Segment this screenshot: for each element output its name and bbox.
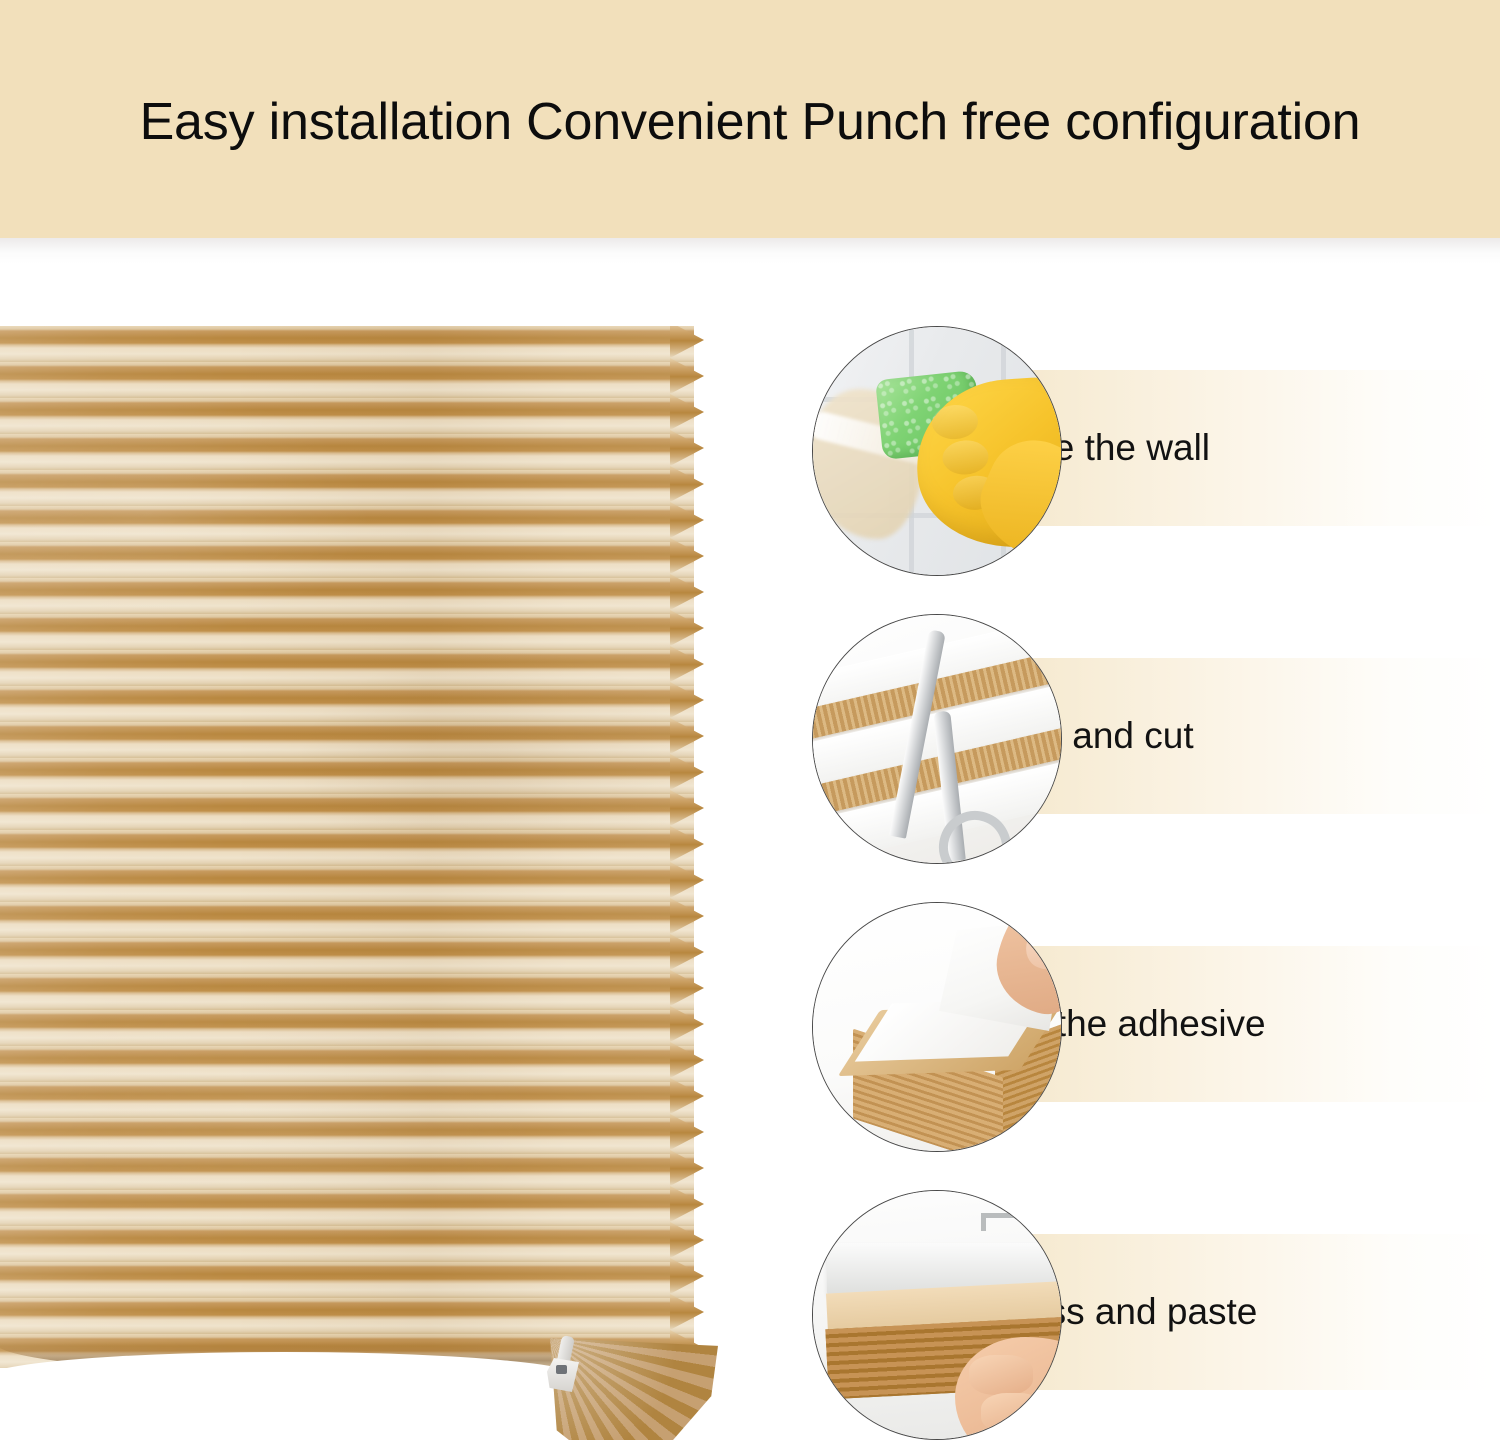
pleat-tooth <box>670 682 704 718</box>
step-item-1: Wipe the wall <box>790 318 1500 578</box>
pleat-tooth <box>670 430 704 466</box>
pleat-tooth <box>670 1006 704 1042</box>
pleat-tooth <box>670 862 704 898</box>
blind-sawtooth-edge <box>670 326 704 1368</box>
pleat-tooth <box>670 502 704 538</box>
pleat-tooth <box>670 646 704 682</box>
step-label-2: Size and cut <box>990 658 1490 814</box>
pleat-tooth <box>670 326 704 358</box>
pleat-tooth <box>670 1150 704 1186</box>
pleat-tooth <box>670 466 704 502</box>
step-label-1: Wipe the wall <box>990 370 1490 526</box>
pleat-tooth <box>670 574 704 610</box>
window-rod-hook <box>981 1213 986 1231</box>
step-item-4: Press and paste <box>790 1182 1500 1440</box>
clip-body <box>547 1358 579 1392</box>
pleat-tooth <box>670 934 704 970</box>
pleat-tooth <box>670 790 704 826</box>
photo-size-and-cut <box>812 614 1062 864</box>
pleat-tooth <box>670 610 704 646</box>
pleat-tooth <box>670 970 704 1006</box>
product-blind-image <box>0 326 710 1376</box>
pull-clip-icon <box>547 1336 581 1392</box>
pleat-tooth <box>670 718 704 754</box>
pleat-tooth <box>670 754 704 790</box>
pleat-tooth <box>670 898 704 934</box>
page-title: Easy installation Convenient Punch free … <box>0 92 1500 152</box>
pleat-tooth <box>670 1294 704 1330</box>
glove-finger <box>941 439 989 476</box>
infographic-page: Easy installation Convenient Punch free … <box>0 0 1500 1440</box>
step-item-2: Size and cut <box>790 606 1500 866</box>
window-rod <box>981 1213 1061 1218</box>
pleat-tooth <box>670 1222 704 1258</box>
pleat-tooth <box>670 1114 704 1150</box>
pleat-tooth <box>670 1186 704 1222</box>
pleat-tooth <box>670 1078 704 1114</box>
banner-fade-divider <box>0 238 1500 264</box>
photo-wipe-the-wall <box>812 326 1062 576</box>
step-label-4: Press and paste <box>990 1234 1490 1390</box>
step-item-3: Rip the adhesive <box>790 894 1500 1154</box>
pleat-tooth <box>670 538 704 574</box>
pleat-tooth <box>670 1258 704 1294</box>
pleat-tooth <box>670 358 704 394</box>
pleat-tooth <box>670 1042 704 1078</box>
blind-mottle-overlay <box>0 326 694 1368</box>
hand-finger <box>969 1355 1033 1395</box>
pleat-tooth <box>670 394 704 430</box>
photo-rip-the-adhesive <box>812 902 1062 1152</box>
blind-pleat-stack <box>0 326 694 1368</box>
clip-dot <box>556 1365 567 1374</box>
photo-press-and-paste <box>812 1190 1062 1440</box>
pleat-tooth <box>670 826 704 862</box>
installation-steps-list: Wipe the wall <box>790 318 1500 1440</box>
step-label-3: Rip the adhesive <box>990 946 1490 1102</box>
header-banner: Easy installation Convenient Punch free … <box>0 0 1500 240</box>
